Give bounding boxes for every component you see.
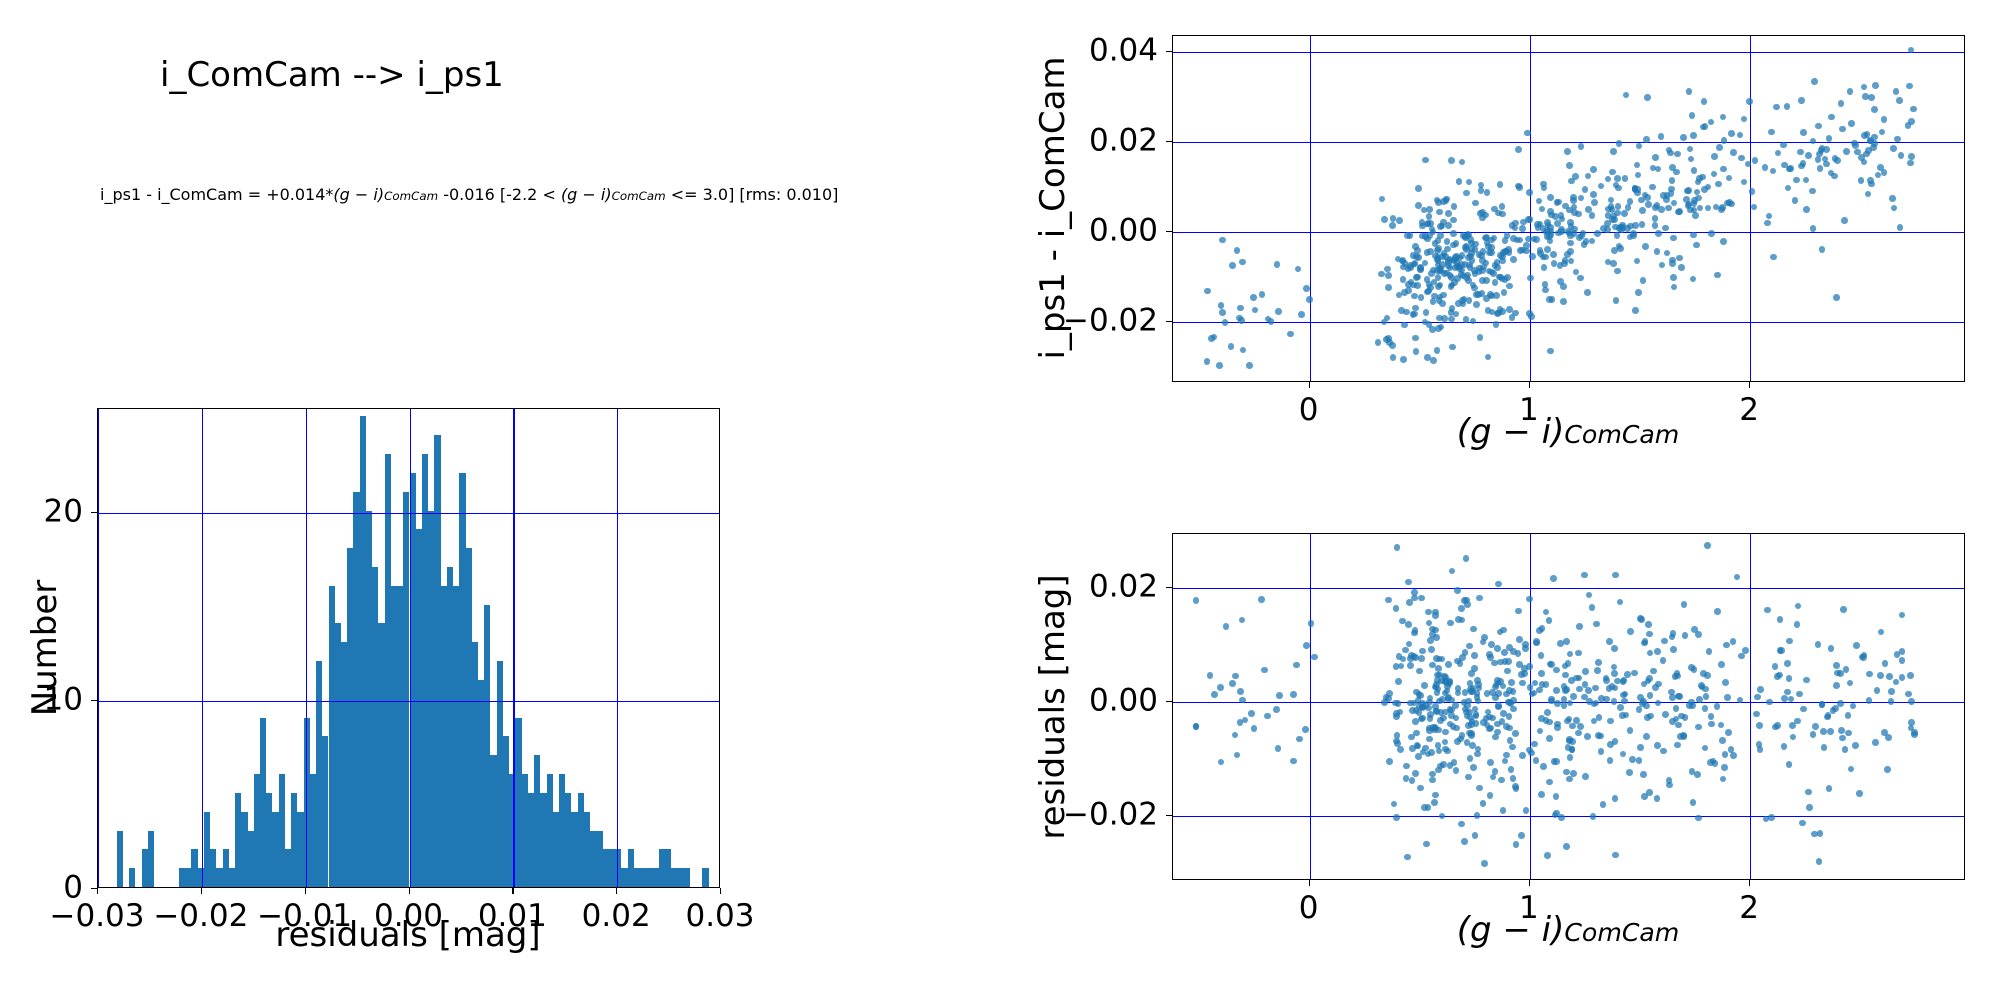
x-tick-label: −0.03 [50,901,145,932]
scatter-point [1798,97,1805,104]
scatter-point [1504,668,1511,675]
scatter-point [1790,734,1797,741]
scatter-point [1845,730,1852,737]
scatter-point [1609,216,1616,223]
scatter-point [1720,114,1727,121]
scatter-point [1563,769,1570,776]
scatter-point [1393,814,1400,821]
gridline-vertical [617,409,618,887]
scatter-point [1742,647,1749,654]
scatter-point [1505,658,1512,665]
scatter-point [1407,232,1414,239]
x-tick [305,888,306,894]
scatter-point [1390,354,1397,361]
scatter-point [1627,628,1634,635]
scatter-point [1518,832,1525,839]
scatter-point [1899,674,1906,681]
scatter-point [1823,161,1830,168]
scatter-point [1753,711,1760,718]
y-tick [1166,231,1172,232]
scatter-point [1442,729,1449,736]
scatter-point [1219,237,1226,244]
scatter-point [1472,241,1479,248]
scatter-point [1702,705,1709,712]
scatter-point [1828,114,1835,121]
y-tick [1166,141,1172,142]
scatter-point [1544,852,1551,859]
scatter-point [1455,690,1462,697]
scatter-point [1584,733,1591,740]
scatter-point [1428,749,1435,756]
scatter-point [1751,204,1758,211]
scatter-point [1509,744,1516,751]
text-panel: i_ComCam --> i_ps1 i_ps1 - i_ComCam = +0… [0,0,1000,400]
scatter-point [1577,723,1584,730]
scatter-point [1675,209,1682,216]
scatter-point [1442,746,1449,753]
scatter-point [1566,716,1573,723]
scatter-point [1607,757,1614,764]
scatter-point [1218,759,1225,766]
y-tick [1166,815,1172,816]
scatter-point [1480,800,1487,807]
scatter-point [1589,212,1596,219]
scatter-point [1472,200,1479,207]
scatter-point [1851,140,1858,147]
scatter-point [1620,692,1627,699]
scatter-point [1839,735,1846,742]
scatter-point [1519,225,1526,232]
scatter-point [1578,143,1585,150]
scatter-point [1905,691,1912,698]
scatter-point [1784,103,1791,110]
scatter-point [1590,166,1597,173]
x-tick [1529,880,1530,886]
histogram-gridlines [98,409,719,887]
scatter-point [1527,275,1534,282]
scatter-point [1378,271,1385,278]
scatter-point [1541,264,1548,271]
scatter-point [1405,621,1412,628]
scatter-point [1522,641,1529,648]
x-tick [1749,880,1750,886]
scatter-point [1580,230,1587,237]
scatter-point [1499,203,1506,210]
scatter-point [1661,638,1668,645]
scatter-point [1437,282,1444,289]
scatter-point [1526,189,1533,196]
scatter-point [1848,766,1855,773]
scatter-point [1239,697,1246,704]
y-tick [91,888,97,889]
scatter-point [1379,196,1386,203]
scatter-point [1451,203,1458,210]
scatter-point [1639,221,1646,228]
figure-title: i_ComCam --> i_ps1 [160,55,504,95]
scatter-point [1644,94,1651,101]
scatter-point [1640,771,1647,778]
scatter-point [1577,275,1584,282]
scatter-point [1484,690,1491,697]
scatter-point [1793,177,1800,184]
scatter-point [1498,777,1505,784]
scatter-point [1425,804,1432,811]
scatter-point [1603,696,1610,703]
scatter-point [1688,156,1695,163]
scatter-point [1725,729,1732,736]
scatter-point [1726,175,1733,182]
scatter-point [1398,663,1405,670]
scatter-point [1567,754,1574,761]
scatter-point [1546,233,1553,240]
scatter-point [1553,687,1560,694]
scatter-point [1911,729,1918,736]
scatter-point [1728,130,1735,137]
scatter-point [1894,136,1901,143]
scatter-point [1833,294,1840,301]
scatter-point [1547,194,1554,201]
scatter-point [1463,597,1470,604]
scatter-point [1487,654,1494,661]
scatter-point [1636,757,1643,764]
scatter-point [1690,276,1697,283]
scatter-point [1546,296,1553,303]
scatter-point [1436,748,1443,755]
equation-range-color-subscript: ComCam [612,189,666,203]
scatter-point [1585,173,1592,180]
scatter-point [1584,289,1591,296]
scatter-point [1889,195,1896,202]
scatter-point [1436,315,1443,322]
scatter-point [1596,714,1603,721]
scatter-point [1766,213,1773,220]
histogram-xlabel-text: residuals [mag] [275,915,540,955]
scatter-point [1899,648,1906,655]
scatter-point [1662,225,1669,232]
equation-color-term: (g − i) [333,185,384,204]
scatter-point [1664,250,1671,257]
scatter-point [1239,259,1246,266]
scatter-point [1689,702,1696,709]
scatter-point [1695,179,1702,186]
scatter-point [1479,277,1486,284]
scatter-point [1311,654,1318,661]
scatter-point [1734,574,1741,581]
scatter-point [1423,841,1430,848]
scatter-magdiff-plot-area [1172,35,1965,382]
scatter-point [1259,291,1266,298]
scatter-point [1470,318,1477,325]
scatter-point [1544,219,1551,226]
scatter-point [1435,665,1442,672]
scatter-point [1777,647,1784,654]
scatter-point [1621,698,1628,705]
scatter-point [1405,579,1412,586]
scatter-point [1558,814,1565,821]
scatter-point [1641,681,1648,688]
scatter-point [1866,697,1873,704]
scatter-point [1699,174,1706,181]
scatter-point [1817,165,1824,172]
scatter-point [1806,804,1813,811]
scatter-point [1544,709,1551,716]
scatter-point [1631,670,1638,677]
scatter-point [1251,725,1258,732]
scatter-point [1581,694,1588,701]
scatter-point [1828,645,1835,652]
scatter-point [1595,659,1602,666]
scatter-point [1407,662,1414,669]
scatter-point [1838,727,1845,734]
scatter-point [1439,656,1446,663]
scatter-point [1598,183,1605,190]
scatter-point [1554,700,1561,707]
scatter-point [1634,258,1641,265]
scatter-point [1418,294,1425,301]
scatter-point [1643,733,1650,740]
scatter-point [1877,672,1884,679]
scatter-point [1871,106,1878,113]
scatter-point [1908,719,1915,726]
scatter-point [1879,129,1886,136]
scatter-point [1865,191,1872,198]
scatter-point [1670,646,1677,653]
scatter-point [1447,620,1454,627]
scatter-point [1654,648,1661,655]
scatter-point [1585,687,1592,694]
scatter-point [1453,767,1460,774]
scatter-point [1499,211,1506,218]
scatter-point [1470,764,1477,771]
scatter-point [1840,606,1847,613]
scatter-point [1638,616,1645,623]
scatter-point [1563,638,1570,645]
scatter-point [1632,307,1639,314]
scatter-point [1483,234,1490,241]
scatter-point [1506,713,1513,720]
scatter-point [1495,581,1502,588]
scatter-point [1686,88,1693,95]
x-tick [1749,382,1750,388]
scatter-point [1501,289,1508,296]
scatter-point [1650,668,1657,675]
scatter-point [1395,678,1402,685]
scatter-point [1620,751,1627,758]
equation-offset: -0.016 [438,185,500,204]
equation-range-open: [-2.2 < [500,185,561,204]
scatter-point [1248,710,1255,717]
scatter-residuals-panel [1172,533,1965,880]
scatter-point [1442,739,1449,746]
scatter-point [1798,163,1805,170]
scatter-point [1509,314,1516,321]
x-tick [720,888,721,894]
scatter-point [1607,718,1614,725]
scatter-point [1687,146,1694,153]
scatter-point [1586,592,1593,599]
scatter-point [1219,309,1226,316]
scatter-point [1232,673,1239,680]
scatter-point [1250,294,1257,301]
scatter-point [1537,247,1544,254]
scatter-point [1240,347,1247,354]
scatter-point [1582,186,1589,193]
scatter-point [1510,775,1517,782]
scatter-point [1540,763,1547,770]
scatter-point [1237,719,1244,726]
scatter-point [1597,733,1604,740]
scatter-point [1529,253,1536,260]
scatter-point [1714,272,1721,279]
scatter-point [1539,206,1546,213]
scatter-point [1635,172,1642,179]
scatter-point [1611,664,1618,671]
scatter-magdiff-points [1173,36,1964,381]
scatter-point [1600,801,1607,808]
scatter-point [1411,311,1418,318]
scatter-point [1785,185,1792,192]
scatter-point [1510,256,1517,263]
scatter-point [1669,634,1676,641]
scatter-point [1211,691,1218,698]
scatter-point [1592,685,1599,692]
scatter-point [1678,264,1685,271]
scatter-point [1622,175,1629,182]
scatter-point [1473,301,1480,308]
scatter-point [1621,210,1628,217]
scatter-point [1408,652,1415,659]
scatter-point [1690,132,1697,139]
scatter-point [1730,149,1737,156]
scatter-point [1711,171,1718,178]
scatter-point [1655,700,1662,707]
scatter-point [1897,224,1904,231]
scatter-point [1412,305,1419,312]
scatter-point [1538,652,1545,659]
y-tick-label: 0 [0,873,83,904]
scatter-point [1229,680,1236,687]
scatter-point [1543,609,1550,616]
scatter-point [1494,645,1501,652]
equation-range-color-term: (g − i) [561,185,612,204]
scatter-point [1290,691,1297,698]
scatter-point [1228,343,1235,350]
scatter-point [1571,209,1578,216]
scatter-point [1440,715,1447,722]
scatter-point [1634,162,1641,169]
scatter-point [1432,609,1439,616]
scatter-point [1526,596,1533,603]
scatter-point [1474,812,1481,819]
scatter-point [1422,702,1429,709]
scatter-point [1576,623,1583,630]
scatter-point [1229,262,1236,269]
scatter-point [1616,140,1623,147]
scatter-point [1590,191,1597,198]
scatter-point [1611,698,1618,705]
scatter-point [1484,189,1491,196]
scatter-point [1567,651,1574,658]
scatter-point [1614,175,1621,182]
scatter-point [1843,666,1850,673]
scatter-point [1466,730,1473,737]
scatter-point [1831,173,1838,180]
scatter-point [1439,696,1446,703]
scatter-point [1589,238,1596,245]
scatter-point [1508,679,1515,686]
scatter-residuals-ylabel: residuals [mag] [1036,574,1070,839]
scatter-point [1839,126,1846,133]
scatter-point [1481,860,1488,867]
y-tick [1166,51,1172,52]
scatter-point [1273,706,1280,713]
scatter-point [1476,251,1483,258]
scatter-point [1654,742,1661,749]
scatter-point [1306,296,1313,303]
scatter-point [1906,83,1913,90]
scatter-point [1847,680,1854,687]
scatter-point [1542,254,1549,261]
scatter-magdiff-xlabel: (g − i)ComCam [1457,415,1680,449]
scatter-point [1737,132,1744,139]
scatter-point [1542,287,1549,294]
scatter-point [1415,185,1422,192]
scatter-point [1412,770,1419,777]
scatter-point [1612,685,1619,692]
scatter-point [1842,746,1849,753]
scatter-point [1612,738,1619,745]
scatter-point [1691,167,1698,174]
scatter-point [1770,254,1777,261]
scatter-point [1872,739,1879,746]
scatter-point [1826,785,1833,792]
scatter-point [1445,263,1452,270]
gridline-vertical [410,409,411,887]
scatter-point [1467,680,1474,687]
scatter-point [1471,652,1478,659]
scatter-point [1612,852,1619,859]
scatter-point [1394,544,1401,551]
gridline-horizontal [98,701,719,702]
scatter-point [1402,647,1409,654]
scatter-point [1474,677,1481,684]
scatter-point [1421,207,1428,214]
scatter-point [1499,718,1506,725]
scatter-point [1613,297,1620,304]
scatter-point [1539,681,1546,688]
x-tick [409,888,410,894]
scatter-point [1690,232,1697,239]
scatter-point [1899,612,1906,619]
scatter-point [1689,768,1696,775]
scatter-point [1701,186,1708,193]
scatter-point [1611,645,1618,652]
equation-lhs: i_ps1 - i_ComCam = [100,185,266,204]
scatter-point [1563,843,1570,850]
scatter-point [1538,670,1545,677]
scatter-point [1770,168,1777,175]
scatter-point [1296,736,1303,743]
x-tick-label: 0 [1299,893,1319,924]
scatter-point [1621,677,1628,684]
scatter-point [1207,672,1214,679]
scatter-point [1434,347,1441,354]
scatter-point [1810,731,1817,738]
scatter-point [1614,210,1621,217]
scatter-point [1217,684,1224,691]
scatter-point [1598,748,1605,755]
scatter-point [1455,616,1462,623]
